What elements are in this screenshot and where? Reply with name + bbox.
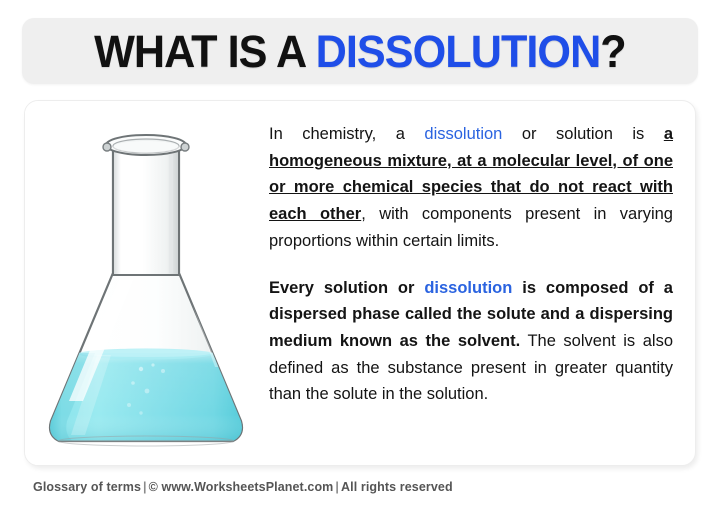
- p1-keyword-dissolution: dissolution: [424, 125, 502, 143]
- illustration-panel: [25, 101, 263, 465]
- p1-seg1: In chemistry, a: [269, 125, 424, 143]
- title-banner: WHAT IS A DISSOLUTION?: [22, 18, 698, 84]
- p1-seg3: or solution is: [502, 125, 663, 143]
- footer-credit-text: Glossary of terms|© www.WorksheetsPlanet…: [33, 480, 453, 494]
- title-question-mark: ?: [600, 26, 625, 77]
- page-title: WHAT IS A DISSOLUTION?: [94, 29, 626, 74]
- title-plain-part: WHAT IS A: [94, 26, 316, 77]
- footer: Glossary of terms|© www.WorksheetsPlanet…: [0, 474, 720, 509]
- footer-separator-1: |: [141, 480, 149, 494]
- footer-separator-2: |: [333, 480, 341, 494]
- definition-text-panel: In chemistry, a dissolution or solution …: [263, 101, 695, 465]
- footer-website-link[interactable]: www.WorksheetsPlanet.com: [162, 480, 334, 494]
- footer-rights-label: All rights reserved: [341, 480, 453, 494]
- content-card: In chemistry, a dissolution or solution …: [24, 100, 696, 466]
- paragraph-components: Every solution or dissolution is compose…: [269, 275, 673, 409]
- footer-glossary-label: Glossary of terms: [33, 480, 141, 494]
- title-keyword: DISSOLUTION: [316, 26, 601, 77]
- worksheet-page: WHAT IS A DISSOLUTION?: [0, 0, 720, 509]
- p2-keyword-dissolution: dissolution: [424, 279, 512, 297]
- paragraph-definition: In chemistry, a dissolution or solution …: [269, 121, 673, 255]
- p2-seg1: Every solution or: [269, 279, 424, 297]
- copyright-icon: ©: [149, 480, 158, 494]
- erlenmeyer-flask-icon: [37, 105, 255, 463]
